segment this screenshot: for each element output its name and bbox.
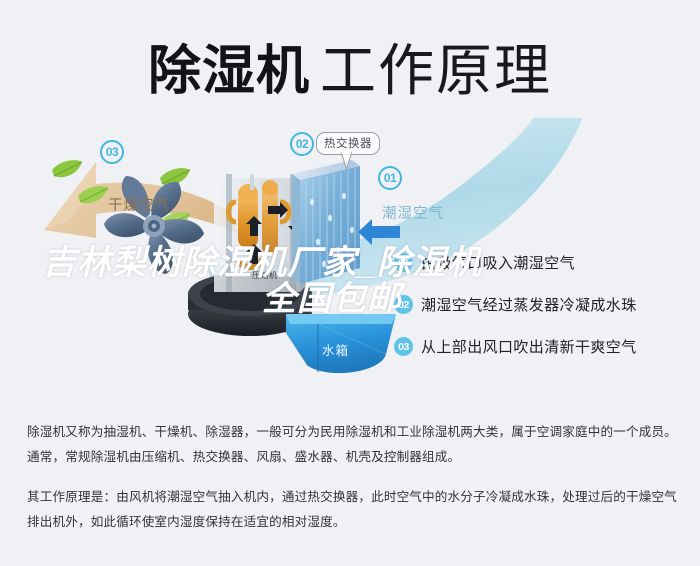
page-title-light: 工作原理 xyxy=(320,39,552,102)
list-item: 03 从上部出风口吹出清新干爽空气 xyxy=(394,336,690,357)
step-text: 潮湿空气经过蒸发器冷凝成水珠 xyxy=(421,294,637,315)
compressor-label: 压缩机 xyxy=(252,270,278,281)
heat-exchanger-icon xyxy=(292,160,360,284)
step-text: 从上部出风口吹出清新干爽空气 xyxy=(421,336,637,357)
diagram-badge-03: 03 xyxy=(100,140,124,164)
list-item: 02 潮湿空气经过蒸发器冷凝成水珠 xyxy=(394,294,690,315)
diagram-badge-02: 02 xyxy=(290,132,314,156)
body-copy: 除湿机又称为抽湿机、干燥机、除湿器，一般可分为民用除湿机和工业除湿机两大类，属于… xyxy=(27,420,677,534)
list-item: 01 由吸气口吸入潮湿空气 xyxy=(394,252,690,273)
step-number-badge: 01 xyxy=(394,253,413,272)
step-number-badge: 02 xyxy=(394,295,413,314)
step-text: 由吸气口吸入潮湿空气 xyxy=(421,252,575,273)
page-title: 除湿机工作原理 xyxy=(0,26,700,107)
humid-air-label: 潮湿空气 xyxy=(382,202,444,223)
page-title-strong: 除湿机 xyxy=(148,42,310,101)
step-number-badge: 03 xyxy=(394,337,413,356)
diagram-badge-01: 01 xyxy=(378,166,402,190)
water-tank-label: 水箱 xyxy=(322,340,349,359)
callout-tail-icon xyxy=(341,152,352,169)
paragraph-definition: 除湿机又称为抽湿机、干燥机、除湿器，一般可分为民用除湿机和工业除湿机两大类，属于… xyxy=(27,420,677,469)
paragraph-principle: 其工作原理是：由风机将潮湿空气抽入机内，通过热交换器，此时空气中的水分子冷凝成水… xyxy=(27,485,677,534)
principle-step-list: 01 由吸气口吸入潮湿空气 02 潮湿空气经过蒸发器冷凝成水珠 03 从上部出风… xyxy=(394,252,690,378)
dry-air-label: 干燥空气 xyxy=(108,194,170,215)
